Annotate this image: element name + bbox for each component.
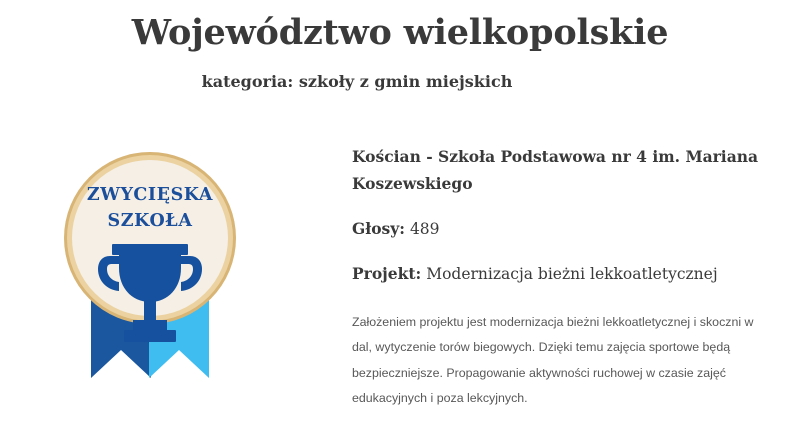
- votes-field: Głosy: 489: [352, 197, 770, 241]
- winner-badge-graphic: ZWYCIĘSKA SZKOŁA: [45, 150, 255, 382]
- page-title: Województwo wielkopolskie: [0, 0, 800, 54]
- school-details: Kościan - Szkoła Podstawowa nr 4 im. Mar…: [352, 144, 770, 412]
- project-field: Projekt: Modernizacja bieżni lekkoatlety…: [352, 242, 770, 286]
- project-label: Projekt:: [352, 264, 421, 283]
- project-value: Modernizacja bieżni lekkoatletycznej: [426, 265, 717, 283]
- project-description: Założeniem projektu jest modernizacja bi…: [352, 286, 767, 412]
- winner-school-card: Województwo wielkopolskie kategoria: szk…: [0, 0, 800, 426]
- badge-text-line2: SZKOŁA: [108, 211, 193, 231]
- winner-badge: ZWYCIĘSKA SZKOŁA: [45, 150, 255, 382]
- badge-text-line1: ZWYCIĘSKA: [87, 185, 213, 205]
- school-name: Kościan - Szkoła Podstawowa nr 4 im. Mar…: [352, 144, 770, 197]
- category-subtitle: kategoria: szkoły z gmin miejskich: [0, 54, 800, 93]
- header: Województwo wielkopolskie kategoria: szk…: [0, 0, 800, 93]
- votes-value: 489: [410, 220, 440, 238]
- votes-label: Głosy:: [352, 219, 405, 238]
